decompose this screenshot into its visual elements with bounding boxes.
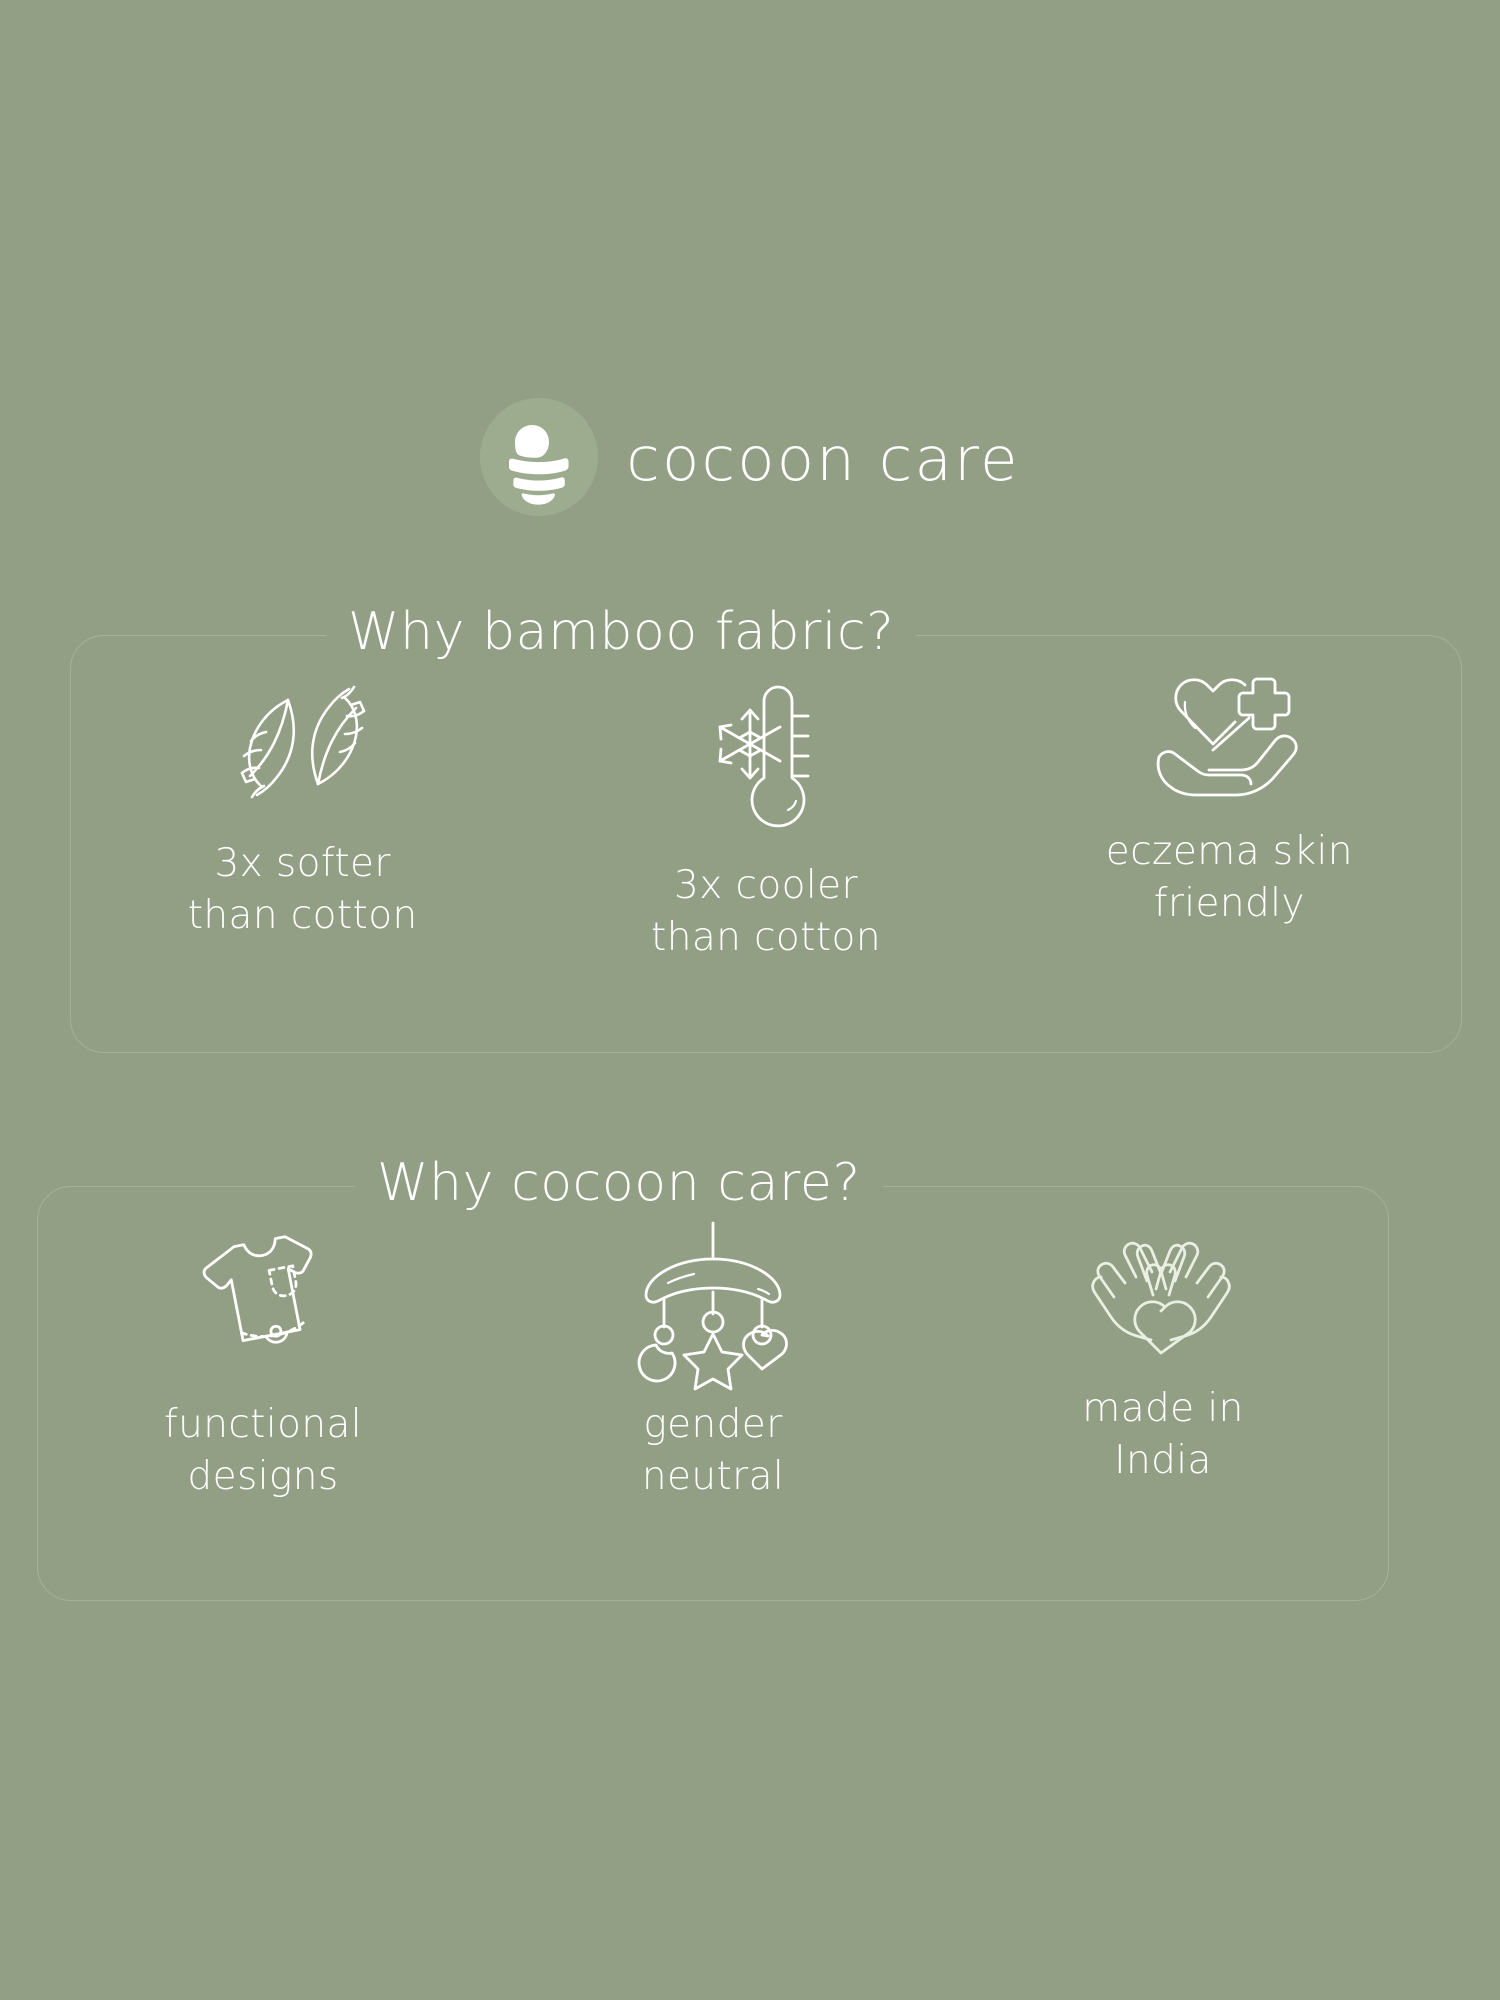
feature-card: 3x cooler than cotton bbox=[534, 636, 997, 1052]
feature-grid: functional designs bbox=[38, 1187, 1388, 1600]
feature-card: functional designs bbox=[38, 1187, 488, 1600]
feature-label: 3x softer than cotton bbox=[188, 838, 418, 942]
feature-card: gender neutral bbox=[488, 1187, 938, 1600]
feature-label: 3x cooler than cotton bbox=[651, 860, 881, 964]
feature-label: eczema skin friendly bbox=[1106, 826, 1353, 930]
heart-cross-hand-icon bbox=[1149, 669, 1309, 801]
hands-heart-icon bbox=[1091, 1235, 1231, 1355]
feature-grid: 3x softer than cotton bbox=[71, 636, 1461, 1052]
feature-card: made in India bbox=[938, 1187, 1388, 1600]
feature-label: functional designs bbox=[164, 1399, 362, 1503]
feature-label: gender neutral bbox=[642, 1399, 784, 1503]
thermometer-snowflake-icon bbox=[694, 674, 826, 826]
feathers-icon bbox=[228, 674, 378, 810]
section-why-cocoon-care: Why cocoon care? bbox=[37, 1186, 1389, 1601]
baby-onesie-icon bbox=[205, 1229, 333, 1373]
crib-mobile-icon bbox=[638, 1221, 788, 1369]
feature-card: eczema skin friendly bbox=[998, 636, 1461, 1052]
feature-card: 3x softer than cotton bbox=[71, 636, 534, 1052]
feature-label: made in India bbox=[1082, 1383, 1243, 1487]
infographic-page: cocoon care Why bamboo fabric? bbox=[0, 0, 1500, 2000]
brand-lockup: cocoon care bbox=[0, 398, 1500, 516]
brand-name: cocoon care bbox=[626, 429, 1019, 490]
cocoon-swaddle-logo-icon bbox=[480, 398, 598, 516]
section-why-bamboo-fabric: Why bamboo fabric? bbox=[70, 635, 1462, 1053]
